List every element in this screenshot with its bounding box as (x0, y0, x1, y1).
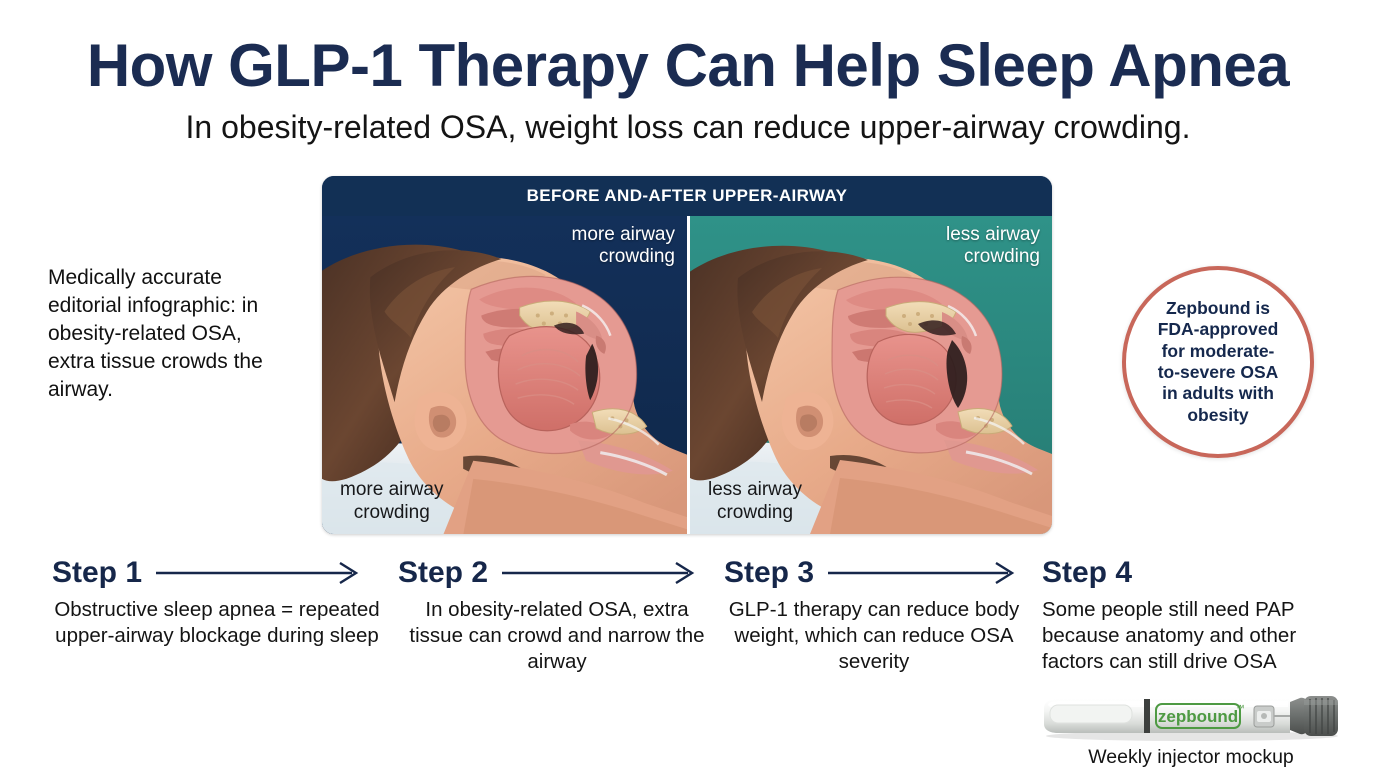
step-4: Step 4 Some people still need PAP becaus… (1042, 552, 1342, 676)
injector-caption: Weekly injector mockup (1032, 746, 1350, 768)
step-1-head: Step 1 (52, 552, 382, 594)
before-after-figure: BEFORE AND-AFTER UPPER-AIRWAY (322, 176, 1052, 534)
arrow-right-icon (828, 562, 1018, 584)
svg-text:™: ™ (1236, 703, 1245, 713)
fda-approval-badge: Zepbound is FDA-approved for moderate- t… (1122, 266, 1314, 458)
pane-before-label-top: more airway crowding (572, 224, 675, 269)
pane-after: less airway crowding less airway crowdin… (687, 216, 1052, 534)
step-3-body: GLP-1 therapy can reduce body weight, wh… (724, 597, 1024, 676)
step-2-title: Step 2 (398, 556, 488, 590)
arrow-right-icon (502, 562, 698, 584)
badge-text: Zepbound is FDA-approved for moderate- t… (1143, 298, 1293, 426)
left-caption: Medically accurate editorial infographic… (48, 264, 288, 404)
injector-pen-icon: zepbound ™ (1032, 692, 1350, 744)
step-2: Step 2 In obesity-related OSA, extra tis… (398, 552, 716, 676)
step-3-title: Step 3 (724, 556, 814, 590)
pane-after-label-top: less airway crowding (946, 224, 1040, 269)
page-title: How GLP-1 Therapy Can Help Sleep Apnea (0, 34, 1376, 97)
steps-row: Step 1 Obstructive sleep apnea = repeate… (0, 552, 1376, 692)
pane-before-label-bottom: more airway crowding (340, 479, 443, 524)
step-1-body: Obstructive sleep apnea = repeated upper… (52, 597, 382, 649)
brand-label: zepbound (1158, 707, 1238, 726)
figure-banner: BEFORE AND-AFTER UPPER-AIRWAY (322, 176, 1052, 216)
step-4-head: Step 4 (1042, 552, 1342, 594)
step-4-title: Step 4 (1042, 556, 1132, 590)
figure-body: more airway crowding more airway crowdin… (322, 216, 1052, 534)
step-1-title: Step 1 (52, 556, 142, 590)
infographic-page: How GLP-1 Therapy Can Help Sleep Apnea I… (0, 0, 1376, 768)
step-3-head: Step 3 (724, 552, 1024, 594)
injector-pen-mockup: zepbound ™ Weekly injector mockup (1032, 692, 1350, 768)
step-2-head: Step 2 (398, 552, 716, 594)
arrow-right-icon (156, 562, 362, 584)
step-2-body: In obesity-related OSA, extra tissue can… (398, 597, 716, 676)
step-3: Step 3 GLP-1 therapy can reduce body wei… (724, 552, 1024, 676)
pane-before: more airway crowding more airway crowdin… (322, 216, 687, 534)
step-1: Step 1 Obstructive sleep apnea = repeate… (52, 552, 382, 649)
step-4-body: Some people still need PAP because anato… (1042, 597, 1342, 676)
pane-after-label-bottom: less airway crowding (708, 479, 802, 524)
page-subtitle: In obesity-related OSA, weight loss can … (0, 108, 1376, 146)
